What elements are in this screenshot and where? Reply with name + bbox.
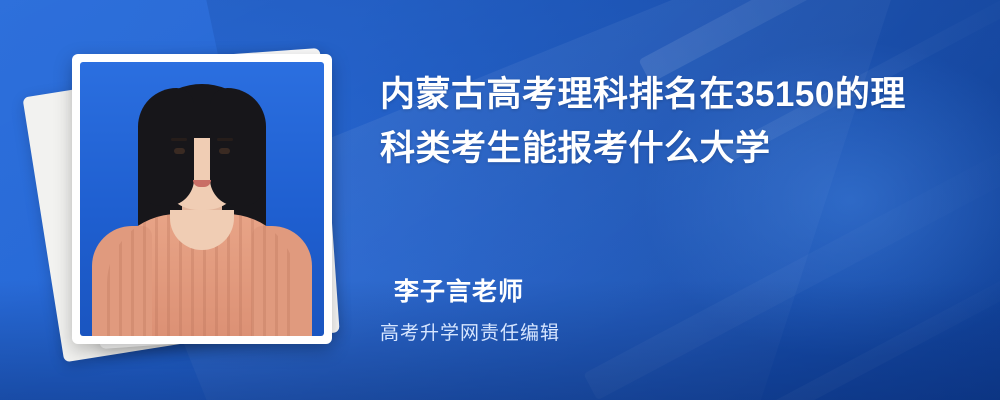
eye-right — [219, 148, 230, 154]
eye-left — [174, 148, 185, 154]
photo-stack — [42, 26, 352, 376]
eyebrow-right — [217, 138, 233, 141]
photo-front-card — [72, 54, 332, 344]
author-role: 高考升学网责任编辑 — [380, 318, 560, 345]
page-title: 内蒙古高考理科排名在35150的理科类考生能报考什么大学 — [380, 68, 940, 177]
portrait-illustration — [80, 62, 324, 336]
hair-left — [138, 88, 194, 206]
author-name: 李子言老师 — [394, 272, 524, 308]
hair-right — [210, 88, 266, 206]
promo-banner: 内蒙古高考理科排名在35150的理科类考生能报考什么大学 李子言老师 高考升学网… — [0, 0, 1000, 400]
eyebrow-left — [171, 138, 187, 141]
avatar — [80, 62, 324, 336]
text-column: 内蒙古高考理科排名在35150的理科类考生能报考什么大学 李子言老师 高考升学网… — [380, 0, 1000, 400]
